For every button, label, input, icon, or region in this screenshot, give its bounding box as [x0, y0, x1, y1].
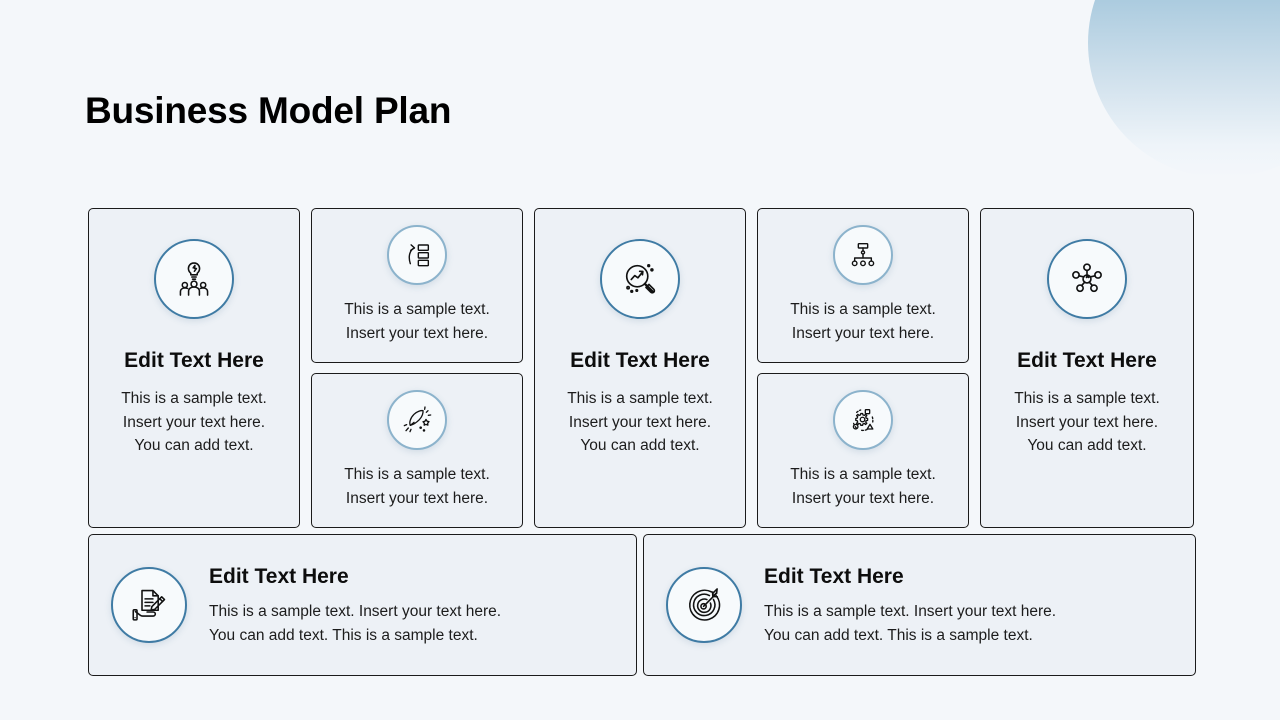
card-body: This is a sample text.Insert your text h…: [111, 387, 277, 458]
page-title: Business Model Plan: [85, 90, 451, 132]
card-body: This is a sample text.Insert your text h…: [557, 387, 723, 458]
banner-text: Edit Text Here This is a sample text. In…: [209, 563, 501, 647]
network-hub-icon: [1047, 239, 1127, 319]
card-half-2a[interactable]: This is a sample text.Insert your text h…: [311, 208, 523, 363]
column-1: Edit Text Here This is a sample text.Ins…: [88, 208, 300, 528]
banner-body: This is a sample text. Insert your text …: [209, 600, 501, 647]
column-3: Edit Text Here This is a sample text.Ins…: [534, 208, 746, 528]
card-heading: Edit Text Here: [1017, 349, 1157, 373]
hierarchy-icon: [833, 225, 893, 285]
card-half-2b[interactable]: This is a sample text.Insert your text h…: [311, 373, 523, 528]
banner-heading: Edit Text Here: [209, 565, 501, 589]
card-body: This is a sample text.Insert your text h…: [1004, 387, 1170, 458]
card-tall-1[interactable]: Edit Text Here This is a sample text.Ins…: [88, 208, 300, 528]
list-arrow-icon: [387, 225, 447, 285]
column-2: This is a sample text.Insert your text h…: [311, 208, 523, 528]
card-heading: Edit Text Here: [570, 349, 710, 373]
team-idea-icon: [154, 239, 234, 319]
card-half-4b[interactable]: This is a sample text.Insert your text h…: [757, 373, 969, 528]
card-tall-5[interactable]: Edit Text Here This is a sample text.Ins…: [980, 208, 1194, 528]
cards-row: Edit Text Here This is a sample text.Ins…: [88, 208, 1196, 528]
card-body: This is a sample text.Insert your text h…: [780, 463, 946, 510]
column-5: Edit Text Here This is a sample text.Ins…: [980, 208, 1194, 528]
card-heading: Edit Text Here: [124, 349, 264, 373]
decorative-gradient-circle: [1088, 0, 1280, 178]
document-pencil-icon: [111, 567, 187, 643]
banner-body: This is a sample text. Insert your text …: [764, 600, 1056, 647]
card-half-4a[interactable]: This is a sample text.Insert your text h…: [757, 208, 969, 363]
rocket-launch-icon: [387, 390, 447, 450]
banner-right[interactable]: Edit Text Here This is a sample text. In…: [643, 534, 1196, 676]
banner-text: Edit Text Here This is a sample text. In…: [764, 563, 1056, 647]
column-4: This is a sample text.Insert your text h…: [757, 208, 969, 528]
card-body: This is a sample text.Insert your text h…: [334, 298, 500, 345]
market-research-icon: [600, 239, 680, 319]
target-arrow-icon: [666, 567, 742, 643]
card-tall-3[interactable]: Edit Text Here This is a sample text.Ins…: [534, 208, 746, 528]
card-body: This is a sample text.Insert your text h…: [334, 463, 500, 510]
gear-shapes-icon: [833, 390, 893, 450]
banners-row: Edit Text Here This is a sample text. In…: [88, 534, 1196, 676]
banner-heading: Edit Text Here: [764, 565, 1056, 589]
card-body: This is a sample text.Insert your text h…: [780, 298, 946, 345]
banner-left[interactable]: Edit Text Here This is a sample text. In…: [88, 534, 637, 676]
